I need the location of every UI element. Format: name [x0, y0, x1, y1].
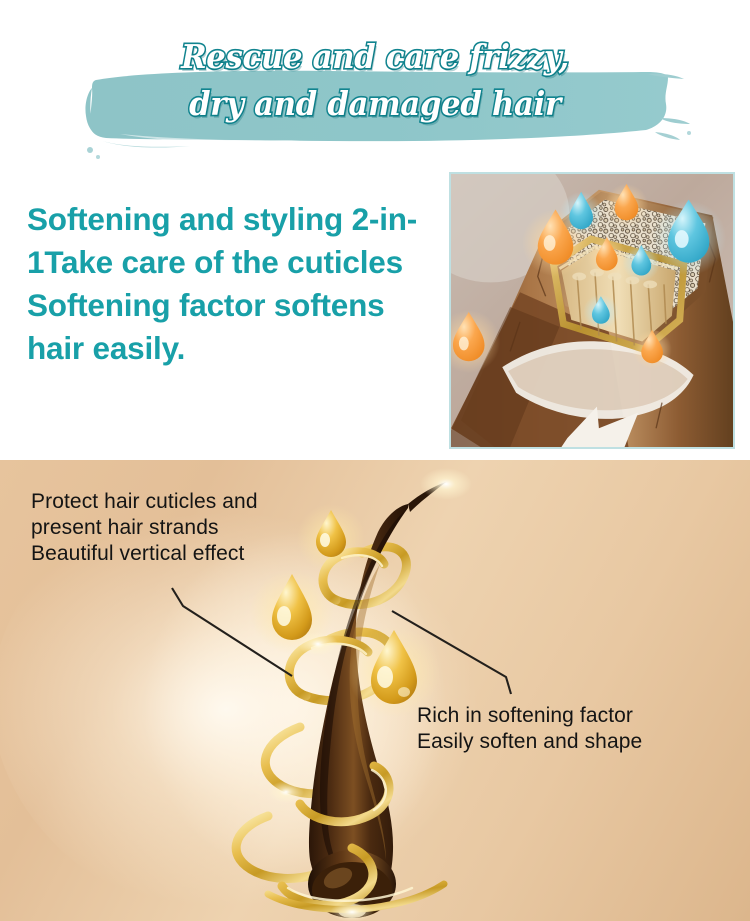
- banner-title: Rescue and care frizzy, dry and damaged …: [26, 33, 724, 127]
- callout-right: Rich in softening factor Easily soften a…: [417, 703, 642, 755]
- callout-left: Protect hair cuticles and present hair s…: [31, 489, 258, 567]
- cuticle-photo: [449, 172, 735, 449]
- product-infographic-page: Rescue and care frizzy, dry and damaged …: [0, 0, 750, 921]
- lead-copy: Softening and styling 2-in-1Take care of…: [27, 198, 427, 370]
- banner: Rescue and care frizzy, dry and damaged …: [0, 0, 750, 170]
- top-white-section: Rescue and care frizzy, dry and damaged …: [0, 0, 750, 460]
- hair-cuticle-illustration: [451, 174, 733, 447]
